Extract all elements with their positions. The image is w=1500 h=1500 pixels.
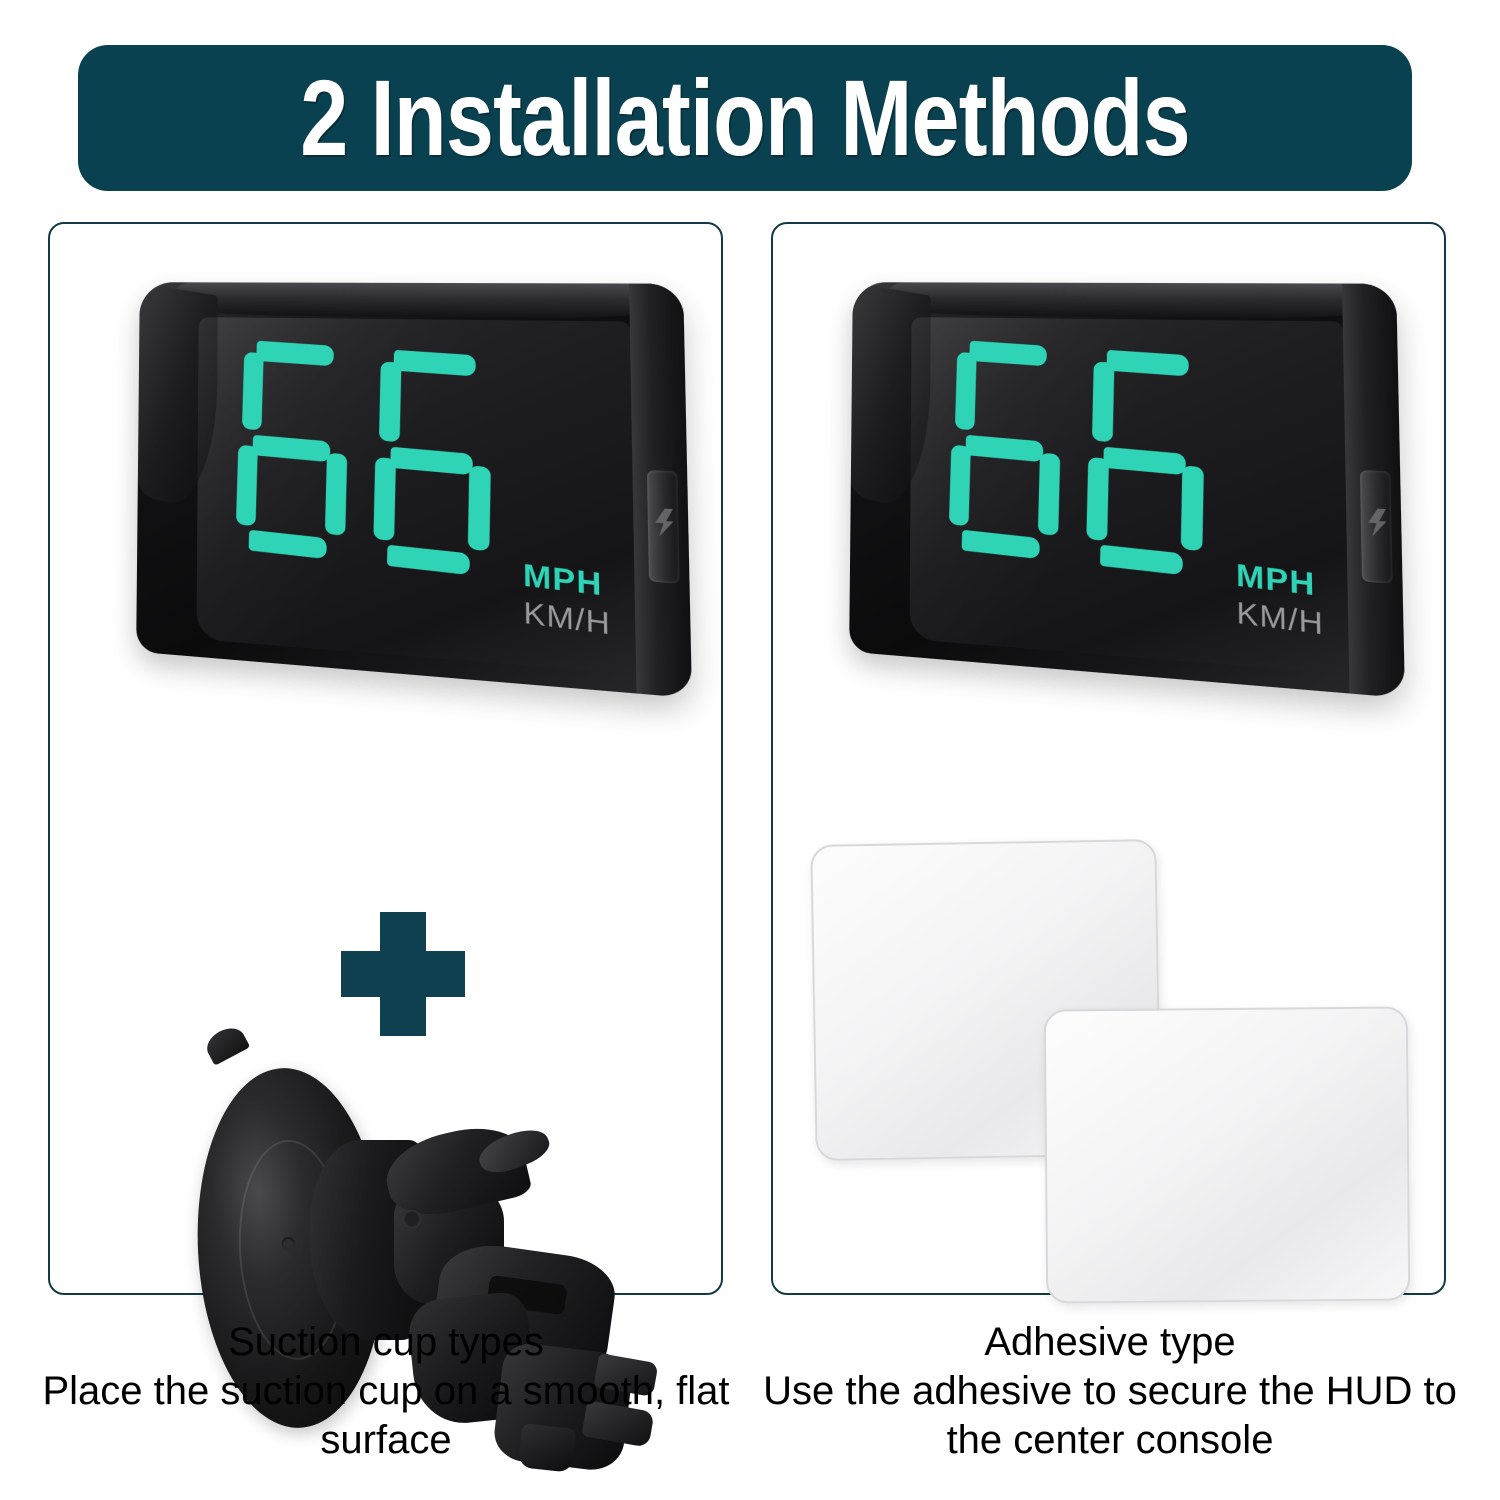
segment-c	[1181, 465, 1204, 551]
segment-c	[1038, 452, 1060, 535]
segment-g	[252, 435, 330, 462]
unit-labels: MPH KM/H	[523, 560, 612, 644]
segment-g	[390, 447, 473, 476]
adhesive-pad-front	[1044, 1006, 1411, 1303]
suction-cup-pull-tab	[202, 1022, 250, 1066]
speed-readout	[948, 340, 1206, 578]
segment-c	[325, 452, 347, 535]
segment-f	[955, 352, 977, 430]
hud-device-adhesive: MPH KM/H	[831, 262, 1371, 662]
segment-a	[394, 350, 476, 377]
segment-a	[969, 341, 1047, 367]
plus-icon	[341, 912, 465, 1036]
segment-f	[242, 352, 264, 430]
segment-g	[965, 435, 1043, 462]
method-panel-suction-cup: MPH KM/H	[48, 222, 723, 1295]
infographic-page: 2 Installation Methods	[0, 0, 1500, 1500]
mount-hinge-screw	[403, 1210, 421, 1228]
segment-f	[379, 361, 401, 442]
hud-top-lip	[882, 282, 1385, 320]
plus-bar-vertical	[380, 912, 426, 1036]
caption-adhesive: Adhesive type Use the adhesive to secure…	[760, 1318, 1460, 1464]
segment-f	[1092, 361, 1114, 442]
caption-title: Adhesive type	[760, 1318, 1460, 1367]
unit-labels: MPH KM/H	[1236, 560, 1325, 644]
speed-digit-1	[235, 340, 350, 561]
speed-digit-2	[1086, 349, 1206, 578]
segment-e	[949, 445, 971, 527]
page-title: 2 Installation Methods	[300, 64, 1190, 172]
hud-top-lip	[169, 282, 672, 320]
hud-body: MPH KM/H	[849, 282, 1405, 698]
segment-a	[256, 341, 334, 367]
speed-digit-1	[948, 340, 1063, 561]
hud-body: MPH KM/H	[136, 282, 692, 698]
caption-suction-cup: Suction cup types Place the suction cup …	[36, 1318, 736, 1464]
segment-e	[1086, 457, 1109, 541]
method-panel-adhesive: MPH KM/H	[771, 222, 1446, 1295]
caption-description: Place the suction cup on a smooth, flat …	[36, 1367, 736, 1465]
segment-e	[373, 457, 396, 541]
segment-c	[468, 465, 491, 551]
segment-a	[1107, 350, 1189, 377]
caption-description: Use the adhesive to secure the HUD to th…	[760, 1367, 1460, 1465]
adhesive-pads	[813, 842, 1433, 1292]
header-banner: 2 Installation Methods	[78, 45, 1412, 191]
caption-title: Suction cup types	[36, 1318, 736, 1367]
speed-readout	[235, 340, 493, 578]
hud-device-suction: MPH KM/H	[118, 262, 658, 662]
segment-g	[1103, 447, 1186, 476]
speed-digit-2	[373, 349, 493, 578]
segment-e	[236, 445, 258, 527]
